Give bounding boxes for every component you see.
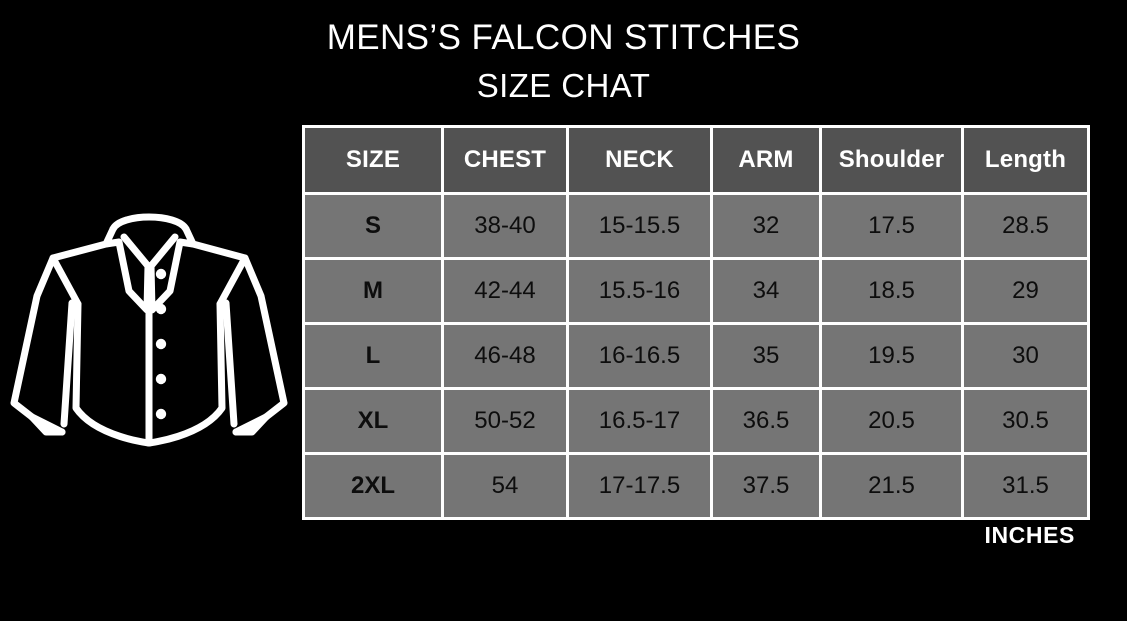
- cell-arm: 36.5: [713, 390, 819, 452]
- column-header-arm: ARM: [713, 128, 819, 192]
- cell-chest: 50-52: [444, 390, 566, 452]
- cell-neck: 16.5-17: [569, 390, 710, 452]
- cell-neck: 15.5-16: [569, 260, 710, 322]
- shirt-buttons: [156, 269, 166, 419]
- units-label: INCHES: [302, 522, 1075, 549]
- cell-length: 30.5: [964, 390, 1087, 452]
- cell-shoulder: 21.5: [822, 455, 961, 517]
- size-chart-table-container: SIZE CHEST NECK ARM Shoulder Length S 38…: [302, 125, 1075, 520]
- table-row: 2XL 54 17-17.5 37.5 21.5 31.5: [305, 455, 1087, 517]
- cell-size: S: [305, 195, 441, 257]
- table-row: S 38-40 15-15.5 32 17.5 28.5: [305, 195, 1087, 257]
- cell-neck: 15-15.5: [569, 195, 710, 257]
- cell-size: M: [305, 260, 441, 322]
- cell-chest: 42-44: [444, 260, 566, 322]
- cell-arm: 37.5: [713, 455, 819, 517]
- size-chart-table: SIZE CHEST NECK ARM Shoulder Length S 38…: [302, 125, 1090, 520]
- cell-arm: 32: [713, 195, 819, 257]
- shirt-neckline: [113, 217, 186, 229]
- cell-size: XL: [305, 390, 441, 452]
- table-row: XL 50-52 16.5-17 36.5 20.5 30.5: [305, 390, 1087, 452]
- page-title-line-1: MENS’S FALCON STITCHES: [0, 14, 1127, 62]
- cell-shoulder: 20.5: [822, 390, 961, 452]
- shirt-button-4: [156, 374, 166, 384]
- cell-shoulder: 19.5: [822, 325, 961, 387]
- cell-length: 30: [964, 325, 1087, 387]
- shirt-button-1: [156, 269, 166, 279]
- page-title: MENS’S FALCON STITCHES SIZE CHAT: [0, 14, 1127, 110]
- shirt-collar-left: [106, 237, 148, 310]
- cell-chest: 38-40: [444, 195, 566, 257]
- cell-length: 31.5: [964, 455, 1087, 517]
- cell-neck: 17-17.5: [569, 455, 710, 517]
- page-title-line-2: SIZE CHAT: [0, 62, 1127, 110]
- cell-size: L: [305, 325, 441, 387]
- column-header-length: Length: [964, 128, 1087, 192]
- column-header-shoulder: Shoulder: [822, 128, 961, 192]
- shirt-button-2: [156, 304, 166, 314]
- cell-chest: 46-48: [444, 325, 566, 387]
- table-row: M 42-44 15.5-16 34 18.5 29: [305, 260, 1087, 322]
- cell-arm: 35: [713, 325, 819, 387]
- table-row: L 46-48 16-16.5 35 19.5 30: [305, 325, 1087, 387]
- table-header-row: SIZE CHEST NECK ARM Shoulder Length: [305, 128, 1087, 192]
- shirt-button-3: [156, 339, 166, 349]
- cell-shoulder: 17.5: [822, 195, 961, 257]
- shirt-button-5: [156, 409, 166, 419]
- cell-chest: 54: [444, 455, 566, 517]
- dress-shirt-illustration: [4, 196, 294, 462]
- column-header-neck: NECK: [569, 128, 710, 192]
- cell-neck: 16-16.5: [569, 325, 710, 387]
- cell-shoulder: 18.5: [822, 260, 961, 322]
- column-header-chest: CHEST: [444, 128, 566, 192]
- cell-size: 2XL: [305, 455, 441, 517]
- column-header-size: SIZE: [305, 128, 441, 192]
- cell-length: 29: [964, 260, 1087, 322]
- cell-arm: 34: [713, 260, 819, 322]
- dress-shirt-icon: [4, 196, 294, 462]
- cell-length: 28.5: [964, 195, 1087, 257]
